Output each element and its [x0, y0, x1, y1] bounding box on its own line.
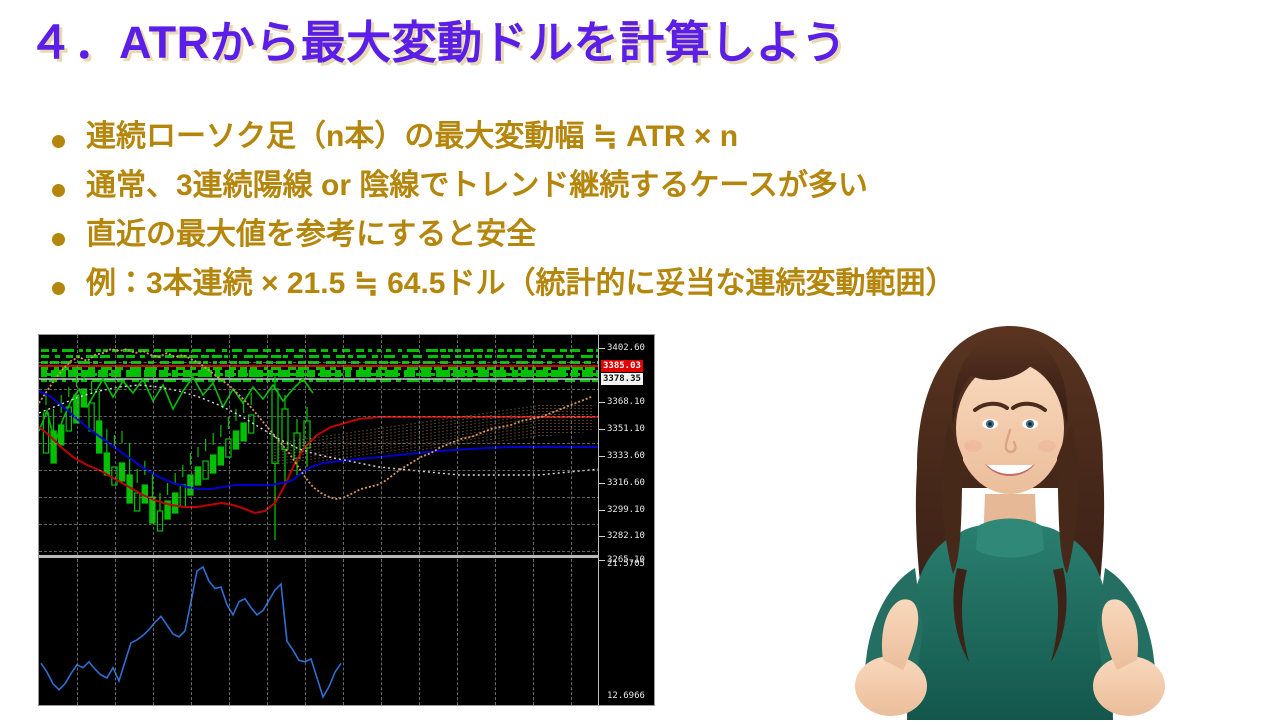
compressed-candle — [385, 370, 398, 377]
compressed-candle — [477, 355, 482, 358]
compressed-candle — [436, 370, 450, 377]
compressed-candle — [144, 370, 156, 377]
bullet-text: 通常、3連続陽線 or 陰線でトレンド継続するケースが多い — [86, 169, 868, 202]
grid-line-vertical — [229, 559, 230, 705]
compressed-candle — [359, 367, 363, 370]
compressed-candle — [215, 370, 220, 377]
compressed-candle — [455, 355, 461, 358]
list-item: 通常、3連続陽線 or 陰線でトレンド継続するケースが多い — [46, 171, 1246, 201]
grid-line-vertical — [115, 559, 116, 705]
grid-line-horizontal — [39, 470, 600, 471]
compressed-candle — [286, 349, 294, 352]
grid-line-vertical — [495, 335, 496, 555]
compressed-candle — [536, 370, 548, 377]
grid-line-vertical — [153, 335, 154, 555]
compressed-candle — [485, 355, 492, 358]
compressed-candle — [394, 367, 401, 370]
compressed-candle — [130, 367, 141, 370]
compressed-candle — [335, 370, 341, 377]
compressed-candle — [552, 355, 563, 358]
compressed-candle — [572, 367, 583, 370]
compressed-candle — [510, 367, 514, 370]
compressed-candle — [283, 355, 288, 358]
bullet-marker-icon — [52, 184, 65, 197]
grid-line-horizontal — [39, 389, 600, 390]
compressed-candle — [404, 370, 415, 377]
candle-body — [157, 511, 162, 531]
compressed-candle — [434, 367, 442, 370]
grid-line-vertical — [343, 335, 344, 555]
compressed-candle — [558, 367, 570, 370]
compressed-candle — [41, 349, 49, 352]
compressed-candle — [172, 370, 178, 377]
atr-indicator-pane — [39, 559, 600, 705]
atr-max-label: 21.5705 — [607, 559, 645, 569]
compressed-candle — [307, 370, 315, 377]
compressed-candle — [566, 355, 574, 358]
atr-line-svg — [39, 559, 600, 705]
compressed-candle — [343, 367, 352, 370]
compressed-candle — [212, 355, 222, 358]
turtleneck-collar — [976, 519, 1044, 558]
price-scale-label: 3368.10 — [607, 397, 645, 407]
compressed-candle — [213, 367, 222, 370]
grid-line-vertical — [77, 559, 78, 705]
list-item: 例：3本連続 × 21.5 ≒ 64.5ドル（統計的に妥当な連続変動範囲） — [46, 269, 1246, 299]
grid-line-vertical — [457, 335, 458, 555]
compressed-candle — [247, 349, 258, 352]
compressed-candle — [296, 370, 304, 377]
bullet-list: 連続ローソク足（n本）の最大変動幅 ≒ ATR × n 通常、3連続陽線 or … — [46, 122, 1246, 318]
ichimoku-span-b — [39, 385, 600, 475]
woman-thumbs-up-illustration — [845, 318, 1175, 720]
grid-line-vertical — [267, 559, 268, 705]
compressed-candle — [240, 367, 247, 370]
compressed-candle — [420, 367, 432, 370]
compressed-candle — [478, 370, 489, 377]
compressed-candle — [222, 349, 227, 352]
pane-divider — [39, 555, 600, 558]
compressed-candle — [276, 349, 280, 352]
compressed-candle — [407, 349, 419, 352]
compressed-candle — [571, 370, 578, 377]
compressed-candle — [498, 349, 504, 352]
compressed-candle — [41, 367, 48, 370]
grid-line-vertical — [229, 335, 230, 555]
compressed-candle — [294, 355, 303, 358]
price-scale-tick — [599, 348, 605, 349]
compressed-candle — [497, 355, 507, 358]
compressed-candle — [52, 349, 57, 352]
grid-line-vertical — [571, 335, 572, 555]
compressed-candle — [330, 367, 336, 370]
candle-body — [135, 493, 140, 511]
candle-body — [180, 485, 185, 507]
compressed-candle — [372, 355, 378, 358]
compressed-candle — [507, 349, 512, 352]
bullet-marker-icon — [52, 233, 65, 246]
page-title: ４．ATRから最大変動ドルを計算しよう — [28, 18, 1258, 68]
compressed-candle — [465, 349, 470, 352]
compressed-candle — [333, 349, 337, 352]
compressed-candle — [41, 355, 49, 358]
compressed-candle — [357, 355, 366, 358]
right-fist — [1093, 656, 1165, 716]
grid-line-vertical — [115, 335, 116, 555]
compressed-candle — [233, 355, 237, 358]
compressed-candle — [229, 367, 236, 370]
price-scale-tick — [599, 456, 605, 457]
candle-body — [89, 403, 94, 431]
compressed-candle — [255, 355, 267, 358]
grid-line-horizontal — [39, 443, 600, 444]
compressed-candle — [126, 355, 135, 358]
compressed-candle — [126, 370, 141, 377]
price-scale-label: 3299.10 — [607, 505, 645, 515]
compressed-candle — [145, 367, 157, 370]
grid-line-horizontal — [39, 362, 600, 363]
price-scale-label: 3351.10 — [607, 424, 645, 434]
compressed-candle — [271, 355, 281, 358]
compressed-candle — [426, 349, 438, 352]
compressed-candle — [421, 370, 431, 377]
grid-line-vertical — [77, 335, 78, 555]
price-scale-axis: 3402.603368.103351.103333.603316.603299.… — [598, 335, 654, 705]
compressed-candle — [455, 349, 461, 352]
compressed-candle — [440, 349, 446, 352]
compressed-candle — [206, 349, 215, 352]
compressed-candle — [402, 355, 408, 358]
list-item: 連続ローソク足（n本）の最大変動幅 ≒ ATR × n — [46, 122, 1246, 152]
price-chart-pane — [39, 335, 600, 555]
price-scale-tick — [599, 560, 605, 561]
ask-price-badge: 3378.35 — [601, 373, 643, 385]
candle-body — [104, 453, 109, 475]
compressed-candle — [527, 355, 536, 358]
compressed-candle — [366, 367, 372, 370]
grid-line-vertical — [533, 335, 534, 555]
compressed-candle — [398, 349, 402, 352]
trading-chart-image: 3402.603368.103351.103333.603316.603299.… — [38, 334, 655, 706]
slide-canvas: ４．ATRから最大変動ドルを計算しよう 連続ローソク足（n本）の最大変動幅 ≒ … — [0, 0, 1280, 720]
pupil-left — [988, 422, 992, 426]
compressed-candle — [512, 370, 518, 377]
compressed-candle — [524, 367, 528, 370]
compressed-candle — [378, 367, 387, 370]
candle-body — [233, 431, 238, 449]
compressed-candle — [441, 355, 450, 358]
grid-line-vertical — [191, 559, 192, 705]
price-scale-label: 3316.60 — [607, 478, 645, 488]
compressed-candle — [581, 355, 593, 358]
bid-price-badge: 3385.03 — [601, 360, 643, 372]
grid-line-vertical — [153, 559, 154, 705]
compressed-candle — [159, 370, 168, 377]
list-item: 直近の最大値を参考にすると安全 — [46, 220, 1246, 250]
compressed-candle — [41, 370, 47, 377]
compressed-candle — [560, 349, 567, 352]
compressed-candle — [323, 355, 330, 358]
compressed-candle — [115, 367, 123, 370]
bullet-text: 例：3本連続 × 21.5 ≒ 64.5ドル（統計的に妥当な連続変動範囲） — [86, 267, 955, 300]
price-scale-tick — [599, 429, 605, 430]
compressed-candle — [201, 355, 209, 358]
compressed-candle — [587, 349, 593, 352]
grid-line-vertical — [381, 559, 382, 705]
compressed-candle — [298, 367, 309, 370]
grid-line-vertical — [457, 559, 458, 705]
compressed-candle — [345, 370, 351, 377]
compressed-candle — [98, 370, 108, 377]
bullet-marker-icon — [52, 135, 65, 148]
compressed-candle — [249, 370, 263, 377]
compressed-candle — [356, 349, 364, 352]
compressed-candle — [86, 349, 91, 352]
compressed-candle — [309, 355, 319, 358]
candlestick-svg — [39, 335, 600, 555]
compressed-candle — [368, 349, 372, 352]
compressed-candle — [164, 367, 169, 370]
candle-body — [119, 463, 124, 481]
grid-line-vertical — [305, 559, 306, 705]
compressed-candle — [140, 355, 145, 358]
compressed-candle — [96, 349, 101, 352]
grid-line-vertical — [419, 335, 420, 555]
compressed-candle — [309, 349, 316, 352]
candle-body — [173, 493, 178, 513]
compressed-candle — [54, 367, 59, 370]
left-fist — [855, 656, 927, 716]
compressed-candle — [66, 355, 73, 358]
compressed-candle — [101, 367, 112, 370]
compressed-candle — [541, 355, 545, 358]
compressed-candle — [244, 355, 253, 358]
compressed-candle — [165, 349, 177, 352]
compressed-candle — [407, 367, 418, 370]
grid-line-vertical — [419, 559, 420, 705]
price-scale-tick — [599, 483, 605, 484]
compressed-candle — [232, 349, 242, 352]
compressed-candle — [111, 370, 121, 377]
grid-line-vertical — [495, 559, 496, 705]
grid-line-vertical — [381, 335, 382, 555]
compressed-candle — [476, 367, 485, 370]
presenter-photo — [845, 318, 1175, 720]
compressed-candle — [463, 355, 474, 358]
pupil-right — [1028, 422, 1032, 426]
compressed-candle — [487, 349, 493, 352]
grid-line-vertical — [343, 559, 344, 705]
compressed-candle — [179, 349, 189, 352]
compressed-candle — [100, 355, 110, 358]
grid-line-horizontal — [39, 551, 600, 552]
compressed-candle — [448, 349, 453, 352]
compressed-candle — [356, 370, 371, 377]
compressed-candle — [582, 370, 593, 377]
price-scale-tick — [599, 510, 605, 511]
compressed-candle — [413, 355, 422, 358]
compressed-candle — [460, 367, 471, 370]
compressed-candle — [81, 370, 95, 377]
compressed-candle — [117, 355, 124, 358]
compressed-candle — [198, 370, 212, 377]
price-scale-tick — [599, 402, 605, 403]
grid-line-vertical — [191, 335, 192, 555]
grid-line-vertical — [571, 559, 572, 705]
bullet-marker-icon — [52, 282, 65, 295]
cheek-left — [964, 440, 982, 452]
compressed-candle — [88, 367, 95, 370]
atr-min-label: 12.6966 — [607, 691, 645, 701]
compressed-candle — [348, 355, 353, 358]
bullet-text: 直近の最大値を参考にすると安全 — [86, 218, 536, 251]
compressed-candle — [453, 370, 465, 377]
compressed-candle — [321, 349, 328, 352]
compressed-candle — [527, 349, 537, 352]
compressed-candle — [154, 349, 161, 352]
compressed-candle — [473, 349, 483, 352]
candle-body — [241, 423, 246, 441]
compressed-candle — [543, 367, 551, 370]
candle-body — [218, 447, 223, 465]
grid-line-horizontal — [39, 416, 600, 417]
compressed-candle — [428, 355, 438, 358]
bullet-text: 連続ローソク足（n本）の最大変動幅 ≒ ATR × n — [86, 120, 738, 153]
grid-line-vertical — [305, 335, 306, 555]
compressed-candle — [79, 349, 83, 352]
compressed-candle — [316, 367, 325, 370]
price-scale-label: 3333.60 — [607, 451, 645, 461]
compressed-candle — [551, 370, 566, 377]
grid-line-vertical — [267, 335, 268, 555]
compressed-candle — [518, 367, 522, 370]
grid-line-vertical — [533, 559, 534, 705]
compressed-candle — [250, 367, 257, 370]
compressed-candle — [288, 367, 296, 370]
compressed-candle — [510, 355, 522, 358]
price-scale-tick — [599, 536, 605, 537]
compressed-candle — [238, 370, 247, 377]
cheek-right — [1038, 440, 1056, 452]
compressed-candle — [320, 370, 331, 377]
compressed-candle — [192, 349, 201, 352]
compressed-candle — [271, 367, 281, 370]
compressed-candle — [585, 367, 595, 370]
compressed-candle — [386, 349, 391, 352]
compressed-candle — [224, 355, 228, 358]
compressed-candle — [515, 349, 522, 352]
compressed-candle — [55, 355, 60, 358]
compressed-candle — [62, 349, 74, 352]
compressed-candle — [278, 370, 290, 377]
compressed-candle — [467, 370, 473, 377]
grid-line-horizontal — [39, 524, 600, 525]
compressed-candle — [500, 367, 504, 370]
compressed-candle — [543, 349, 555, 352]
compressed-candle — [384, 355, 395, 358]
compressed-candle — [176, 367, 185, 370]
price-scale-label: 3282.10 — [607, 531, 645, 541]
grid-line-horizontal — [39, 497, 600, 498]
price-scale-label: 3402.60 — [607, 343, 645, 353]
